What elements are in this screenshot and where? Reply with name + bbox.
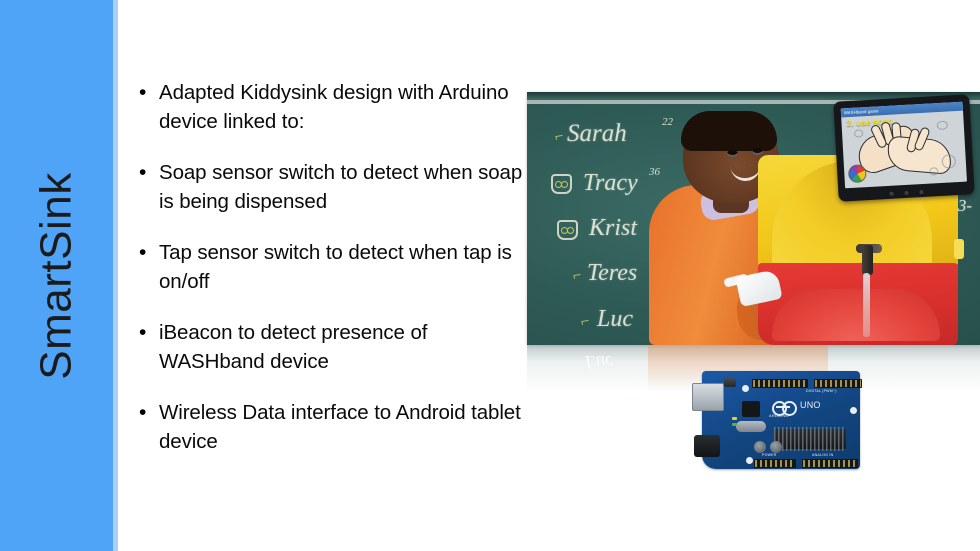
tablet-nav-buttons[interactable]: [889, 190, 923, 196]
arduino-pcb: UNO ARDUINO DIGITAL (PWM~) POWER ANALOG …: [702, 371, 860, 469]
bullet-item-1: • Adapted Kiddysink design with Arduino …: [136, 78, 528, 136]
soap-bubble-icon: [941, 154, 956, 169]
arduino-board-name: UNO: [800, 400, 821, 410]
chalk-name-3: Krist: [589, 215, 637, 242]
arduino-mount-hole: [850, 407, 857, 414]
child-eye: [727, 150, 738, 157]
arduino-digital-label: DIGITAL (PWM~): [806, 389, 837, 393]
arduino-capacitor: [770, 441, 782, 453]
arduino-usb-port: [692, 383, 724, 411]
bullet-list: • Adapted Kiddysink design with Arduino …: [136, 78, 528, 478]
tablet-home-button[interactable]: [904, 191, 908, 195]
chalk-name-2: Tracy: [583, 170, 638, 197]
arduino-analog-label: ANALOG IN: [812, 453, 833, 457]
arduino-pins: [815, 380, 861, 387]
bullet-marker-icon: •: [136, 78, 159, 107]
arduino-pins: [755, 460, 795, 467]
bullet-text-1: Adapted Kiddysink design with Arduino de…: [159, 78, 528, 136]
slide-canvas: SmartSink • Adapted Kiddysink design wit…: [0, 0, 980, 551]
child-eye: [752, 148, 763, 155]
arduino-brand-text: ARDUINO: [769, 413, 789, 418]
arduino-mount-hole: [746, 457, 753, 464]
bullet-item-4: • iBeacon to detect presence of WASHband…: [136, 318, 528, 376]
sidebar-panel: [0, 0, 113, 551]
tablet-recents-button[interactable]: [919, 190, 923, 194]
tablet-back-button[interactable]: [889, 192, 893, 196]
arduino-tx-led: [732, 417, 737, 420]
bullet-marker-icon: •: [136, 318, 159, 347]
bullet-marker-icon: •: [136, 158, 159, 187]
water-stream: [863, 273, 870, 337]
soap-bubble-icon: [929, 167, 938, 175]
arduino-power-label: POWER: [762, 453, 777, 457]
photo-reflection-chalk: Luc: [585, 350, 614, 372]
arduino-pins: [753, 380, 807, 387]
arduino-digital-header-a: [752, 379, 808, 388]
arduino-capacitor: [754, 441, 766, 453]
sink-side-tab: [954, 239, 964, 259]
arduino-power-header: [754, 459, 796, 468]
bullet-item-3: • Tap sensor switch to detect when tap i…: [136, 238, 528, 296]
arduino-pins: [803, 460, 857, 467]
arduino-power-jack: [694, 435, 720, 457]
photo-kiddysink: ⌐ Sarah 22 Tracy 36 Krist ⌐ Teres ⌐ Luc …: [527, 92, 980, 345]
tap-icon: [862, 245, 873, 275]
arduino-reset-button: [724, 377, 736, 387]
arduino-rx-led: [732, 423, 737, 426]
sink-base-lip: [772, 289, 940, 341]
bullet-text-2: Soap sensor switch to detect when soap i…: [159, 158, 528, 216]
chalk-name-1: Sarah: [567, 120, 627, 148]
android-tablet[interactable]: WASHband game 2. use soap: [833, 94, 974, 201]
sidebar-edge-strip: [113, 0, 118, 551]
photo-frame: ⌐ Sarah 22 Tracy 36 Krist ⌐ Teres ⌐ Luc …: [527, 92, 980, 345]
chalk-name-4: Teres: [587, 260, 637, 287]
bullet-item-5: • Wireless Data interface to Android tab…: [136, 398, 528, 456]
bullet-text-3: Tap sensor switch to detect when tap is …: [159, 238, 528, 296]
tablet-screen[interactable]: WASHband game 2. use soap: [841, 102, 967, 189]
arduino-atmega-chip: [774, 429, 846, 449]
color-wheel-icon[interactable]: [848, 164, 867, 183]
chalk-right-number: 3-: [958, 196, 972, 216]
arduino-usb-controller-ic: [742, 401, 760, 417]
arduino-digital-header-b: [814, 379, 862, 388]
bullet-item-2: • Soap sensor switch to detect when soap…: [136, 158, 528, 216]
child-hair: [681, 111, 777, 151]
arduino-mount-hole: [742, 385, 749, 392]
bullet-marker-icon: •: [136, 238, 159, 267]
arduino-analog-header: [802, 459, 858, 468]
bullet-text-5: Wireless Data interface to Android table…: [159, 398, 528, 456]
bullet-marker-icon: •: [136, 398, 159, 427]
chalk-badge-icon: [551, 174, 572, 194]
tablet-titlebar: WASHband game: [841, 102, 963, 118]
arduino-infinity-logo-bar: [776, 406, 790, 408]
chalk-name-5: Luc: [597, 306, 633, 333]
bullet-text-4: iBeacon to detect presence of WASHband d…: [159, 318, 528, 376]
chalk-badge-icon: [557, 220, 578, 240]
arduino-board-image: UNO ARDUINO DIGITAL (PWM~) POWER ANALOG …: [692, 367, 866, 473]
arduino-crystal: [736, 421, 766, 432]
